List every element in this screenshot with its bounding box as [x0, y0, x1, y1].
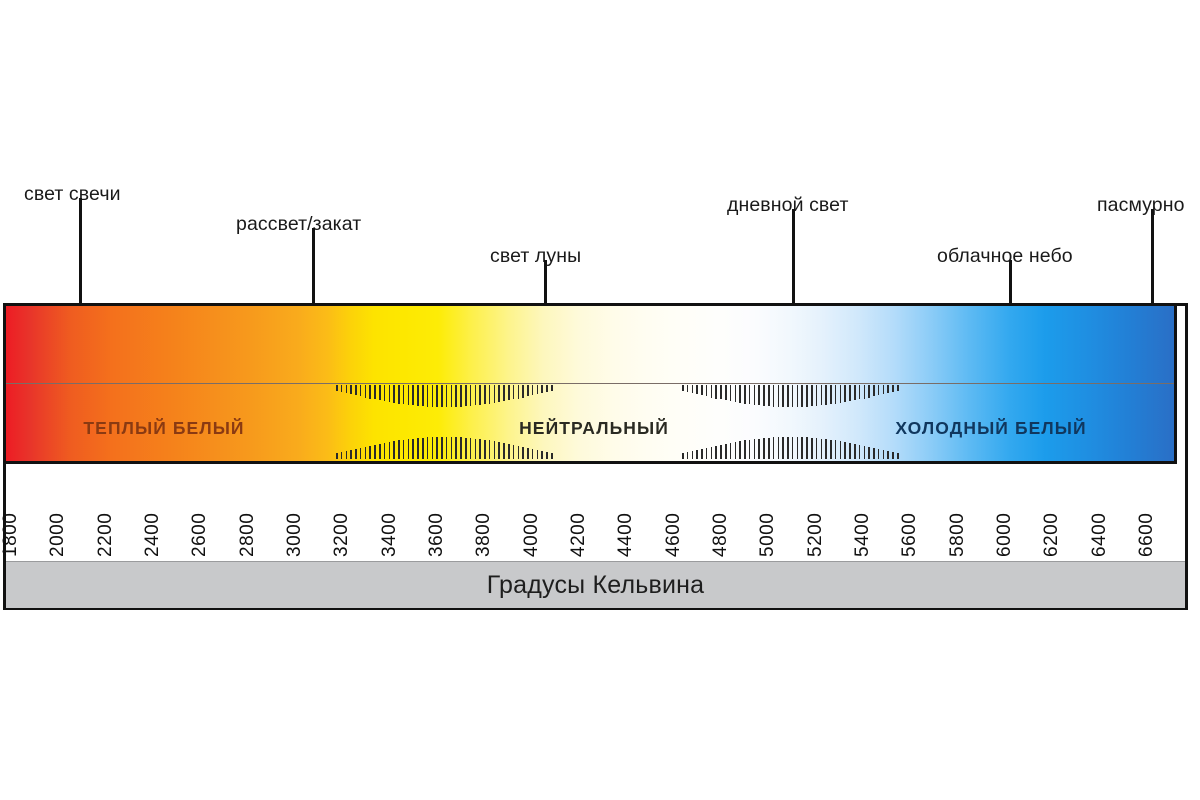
ruler-tick [489, 440, 491, 459]
ruler-tick [801, 437, 803, 459]
ruler-tick [503, 443, 505, 459]
ruler-tick [773, 385, 775, 407]
ruler-tick [470, 385, 472, 406]
ruler-tick [749, 385, 751, 404]
ruler-tick [451, 385, 453, 407]
ruler-tick [365, 447, 367, 460]
ruler-tick [682, 385, 684, 391]
ruler-tick [859, 385, 861, 399]
ruler-tick [412, 439, 414, 459]
ruler-tick [532, 385, 534, 395]
ruler-tick [389, 442, 391, 459]
ruler-tick [754, 385, 756, 405]
ruler-tick [441, 437, 443, 459]
ruler-tick [513, 385, 515, 399]
ruler-tick [825, 385, 827, 405]
ruler-tick [355, 449, 357, 459]
ruler-tick [825, 439, 827, 459]
ruler-tick [436, 385, 438, 407]
ruler-tick [883, 385, 885, 394]
ruler-tick [408, 439, 410, 459]
kelvin-tick-4000: 4000 [521, 513, 543, 557]
ruler-tick [730, 385, 732, 401]
ruler-tick [465, 385, 467, 406]
gradient-band-upper [6, 306, 1174, 383]
ruler-tick [787, 437, 789, 459]
ruler-tick [763, 438, 765, 459]
ruler-tick [460, 437, 462, 459]
ruler-tick [696, 385, 698, 394]
ruler-tick [432, 437, 434, 459]
ruler-tick [701, 385, 703, 395]
ruler-tick [498, 385, 500, 402]
ruler-tick [725, 385, 727, 400]
ruler-tick [350, 450, 352, 459]
ruler-tick [374, 445, 376, 459]
ruler-tick [341, 452, 343, 459]
ruler-tick [744, 385, 746, 404]
ruler-tick [878, 385, 880, 395]
ruler-tick [806, 385, 808, 407]
ruler-tick [821, 439, 823, 459]
ruler-tick [551, 453, 553, 459]
kelvin-tick-5400: 5400 [852, 513, 874, 557]
callout-label-daylight: дневной свет [727, 196, 849, 216]
ruler-tick [701, 449, 703, 459]
ruler-tick [720, 445, 722, 459]
ruler-tick [835, 440, 837, 459]
kelvin-unit-label: Градусы Кельвина [487, 571, 705, 600]
kelvin-tick-labels: 1800200022002400260028003000320034003600… [6, 464, 1185, 561]
ruler-tick [408, 385, 410, 405]
ruler-tick [830, 440, 832, 459]
ruler-tick [527, 385, 529, 396]
ruler-tick [451, 437, 453, 459]
ruler-tick [336, 385, 338, 391]
ruler-tick [455, 385, 457, 407]
ruler-tick [537, 385, 539, 394]
kelvin-tick-6600: 6600 [1136, 513, 1158, 557]
ruler-tick [735, 442, 737, 459]
ruler-tick [830, 385, 832, 404]
ruler-tick [369, 385, 371, 399]
ruler-tick [797, 385, 799, 407]
color-temperature-diagram: свет свечирассвет/закатсвет луныдневной … [0, 0, 1200, 800]
ruler-tick [346, 385, 348, 393]
ruler-tick [432, 385, 434, 407]
ruler-tick [692, 451, 694, 459]
kelvin-tick-2000: 2000 [47, 513, 69, 557]
ruler-tick [758, 385, 760, 405]
ruler-tick [687, 452, 689, 459]
ruler-tick [773, 437, 775, 459]
ruler-tick [518, 446, 520, 460]
ruler-tick [398, 440, 400, 459]
ruler-tick [422, 438, 424, 459]
ruler-tick [849, 385, 851, 401]
callout-label-cloudy-sky: облачное небо [937, 247, 1073, 267]
ruler-tick [687, 385, 689, 392]
ruler-tick [427, 385, 429, 407]
ruler-tick [720, 385, 722, 399]
ruler-tick [503, 385, 505, 401]
ruler-tick [389, 385, 391, 402]
ruler-tick [711, 447, 713, 460]
kelvin-tick-4200: 4200 [568, 513, 590, 557]
ruler-tick [427, 437, 429, 459]
ruler-tick [360, 448, 362, 459]
kelvin-tick-2200: 2200 [95, 513, 117, 557]
ruler-tick [715, 385, 717, 399]
ruler-tick [522, 385, 524, 398]
ruler-tick [792, 437, 794, 459]
callout-label-candle-light: свет свечи [24, 185, 121, 205]
ruler-tick [768, 385, 770, 406]
ruler-tick [739, 385, 741, 403]
ruler-tick [508, 444, 510, 459]
ruler-tick [696, 450, 698, 459]
ruler-tick [460, 385, 462, 407]
kelvin-tick-2400: 2400 [142, 513, 164, 557]
ruler-tick [479, 439, 481, 459]
ruler-tick [797, 437, 799, 459]
kelvin-tick-5200: 5200 [805, 513, 827, 557]
ruler-tick [711, 385, 713, 398]
ruler-tick [393, 441, 395, 459]
kelvin-tick-6200: 6200 [1041, 513, 1063, 557]
ruler-tick [393, 385, 395, 403]
ruler-tick [840, 385, 842, 403]
ruler-tick [692, 385, 694, 393]
ruler-tick [369, 446, 371, 460]
kelvin-tick-4800: 4800 [710, 513, 732, 557]
ruler-tick [878, 449, 880, 459]
kelvin-unit-bar: Градусы Кельвина [6, 561, 1185, 608]
kelvin-tick-2600: 2600 [189, 513, 211, 557]
ruler-tick [706, 385, 708, 396]
ruler-tick [887, 385, 889, 393]
ruler-tick [484, 440, 486, 459]
ruler-tick [835, 385, 837, 404]
ruler-tick [792, 385, 794, 407]
ruler-tick [350, 385, 352, 394]
ruler-tick [446, 385, 448, 407]
ruler-tick [864, 446, 866, 460]
ruler-tick [844, 385, 846, 402]
ruler-tick [768, 438, 770, 459]
kelvin-tick-5000: 5000 [757, 513, 779, 557]
ruler-tick [758, 439, 760, 459]
kelvin-tick-5600: 5600 [899, 513, 921, 557]
ruler-tick [479, 385, 481, 405]
ruler-tick [859, 445, 861, 459]
band-divider-line [6, 383, 1174, 384]
color-gradient-strip: ТЕПЛЫЙ БЕЛЫЙ НЕЙТРАЛЬНЫЙ ХОЛОДНЫЙ БЕЛЫЙ [6, 306, 1174, 461]
ruler-tick [854, 385, 856, 400]
ruler-tick [489, 385, 491, 404]
ruler-tick [739, 441, 741, 459]
ruler-tick [537, 450, 539, 459]
kelvin-tick-3400: 3400 [379, 513, 401, 557]
ruler-tick [374, 385, 376, 399]
ruler-tick [873, 385, 875, 396]
ruler-tick [379, 444, 381, 459]
kelvin-tick-3600: 3600 [426, 513, 448, 557]
ruler-tick [498, 442, 500, 459]
ruler-tick [513, 445, 515, 459]
ruler-tick [730, 443, 732, 459]
ruler-tick [446, 437, 448, 459]
band-caption-cool-white: ХОЛОДНЫЙ БЕЛЫЙ [895, 418, 1086, 439]
kelvin-tick-1800: 1800 [0, 513, 22, 557]
ruler-tick [465, 438, 467, 459]
ruler-tick [897, 453, 899, 459]
ruler-tick [546, 452, 548, 459]
ruler-tick [744, 440, 746, 459]
ruler-tick [887, 451, 889, 459]
ruler-tick [883, 450, 885, 459]
kelvin-tick-3800: 3800 [473, 513, 495, 557]
ruler-tick [715, 446, 717, 460]
ruler-tick [360, 385, 362, 396]
band-caption-warm-white: ТЕПЛЫЙ БЕЛЫЙ [83, 418, 244, 439]
ruler-tick [840, 441, 842, 459]
kelvin-tick-6400: 6400 [1089, 513, 1111, 557]
kelvin-tick-2800: 2800 [237, 513, 259, 557]
ruler-tick [384, 385, 386, 401]
ruler-tick [749, 440, 751, 459]
ruler-tick [417, 438, 419, 459]
ruler-tick [782, 385, 784, 407]
ruler-tick [379, 385, 381, 400]
kelvin-tick-6000: 6000 [994, 513, 1016, 557]
ruler-tick [868, 447, 870, 460]
ruler-tick [475, 385, 477, 405]
ruler-tick [355, 385, 357, 395]
ruler-tick [801, 385, 803, 407]
kelvin-tick-5800: 5800 [947, 513, 969, 557]
kelvin-tick-3200: 3200 [331, 513, 353, 557]
ruler-tick [470, 438, 472, 459]
ruler-tick [532, 449, 534, 459]
ruler-tick [341, 385, 343, 392]
kelvin-tick-4400: 4400 [615, 513, 637, 557]
ruler-tick [816, 385, 818, 406]
ruler-tick [384, 443, 386, 459]
ruler-tick [518, 385, 520, 399]
ruler-tick [892, 385, 894, 392]
callout-label-overcast: пасмурно [1097, 196, 1185, 216]
ruler-tick [811, 385, 813, 406]
ruler-tick [541, 451, 543, 459]
ruler-tick [336, 453, 338, 459]
ruler-tick [403, 385, 405, 404]
ruler-tick [484, 385, 486, 404]
ruler-tick [778, 385, 780, 407]
ruler-tick [455, 437, 457, 459]
callout-label-moonlight: свет луны [490, 247, 581, 267]
kelvin-tick-3000: 3000 [284, 513, 306, 557]
ruler-tick [806, 437, 808, 459]
callout-label-sunrise-sunset: рассвет/закат [236, 215, 361, 235]
ruler-tick [436, 437, 438, 459]
ruler-tick [365, 385, 367, 398]
ruler-tick [541, 385, 543, 393]
ruler-tick [787, 385, 789, 407]
ruler-tick [546, 385, 548, 392]
kelvin-tick-4600: 4600 [663, 513, 685, 557]
ruler-tick [422, 385, 424, 406]
ruler-tick [897, 385, 899, 391]
ruler-tick [494, 441, 496, 459]
ruler-tick [735, 385, 737, 402]
ruler-tick [527, 448, 529, 459]
ruler-tick [441, 385, 443, 407]
ruler-tick [706, 448, 708, 459]
ruler-tick [821, 385, 823, 405]
ruler-tick [508, 385, 510, 400]
ruler-tick [398, 385, 400, 404]
ruler-tick [782, 437, 784, 459]
kelvin-scale-frame: ТЕПЛЫЙ БЕЛЫЙ НЕЙТРАЛЬНЫЙ ХОЛОДНЫЙ БЕЛЫЙ … [3, 303, 1188, 610]
ruler-tick [854, 444, 856, 459]
ruler-tick [811, 438, 813, 459]
ruler-tick [725, 444, 727, 459]
ruler-tick [475, 439, 477, 459]
band-caption-neutral: НЕЙТРАЛЬНЫЙ [519, 418, 669, 439]
ruler-tick [551, 385, 553, 391]
ruler-tick [778, 437, 780, 459]
ruler-tick [816, 438, 818, 459]
ruler-tick [403, 440, 405, 459]
ruler-tick [412, 385, 414, 405]
ruler-tick [844, 442, 846, 459]
ruler-tick [849, 443, 851, 459]
gradient-right-rule [1174, 306, 1177, 464]
ruler-tick [868, 385, 870, 398]
ruler-tick [522, 447, 524, 460]
ruler-tick [754, 439, 756, 459]
ruler-tick [494, 385, 496, 403]
ruler-tick [417, 385, 419, 406]
ruler-tick [892, 452, 894, 459]
ruler-tick [346, 451, 348, 459]
ruler-tick [873, 448, 875, 459]
ruler-tick [682, 453, 684, 459]
ruler-tick [864, 385, 866, 399]
ruler-tick [763, 385, 765, 406]
